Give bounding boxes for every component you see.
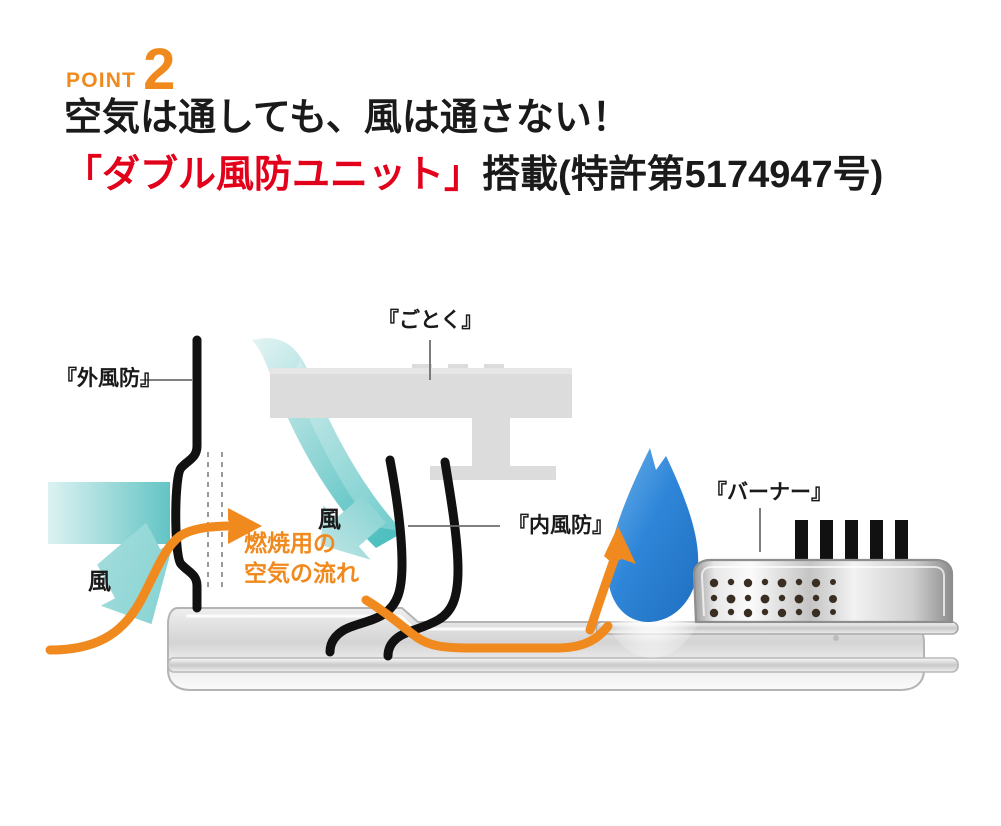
label-burner: 『バーナー』 (706, 482, 832, 503)
windguard-diagram: 『外風防』 『ごとく』 『内風防』 『バーナー』 風 風 燃焼用の 空気の流れ (0, 230, 1001, 826)
label-airflow-line2: 空気の流れ (244, 560, 359, 587)
point-badge: POINT 2 (66, 36, 174, 94)
headline-primary: 空気は通しても、風は通さない！ (64, 98, 630, 140)
outer-windguard-hidden-edges (208, 452, 222, 590)
base-plate (168, 658, 958, 672)
label-inner-windguard: 『内風防』 (508, 515, 613, 536)
label-wind-left: 風 (88, 570, 111, 593)
diagram-canvas (0, 230, 1001, 826)
label-airflow-line1: 燃焼用の (244, 530, 336, 557)
point-2-panel: POINT 2 空気は通しても、風は通さない！ 「ダブル風防ユニット」搭載(特許… (0, 0, 1001, 826)
headline-secondary-red: 「ダブル風防ユニット」 (64, 154, 482, 196)
label-trivet: 『ごとく』 (378, 310, 482, 331)
point-label: POINT (66, 70, 136, 94)
burner-unit (694, 520, 952, 622)
headline-secondary-black: 搭載(特許第5174947号) (482, 154, 883, 196)
label-wind-center: 風 (318, 508, 341, 531)
label-outer-windguard: 『外風防』 (56, 368, 161, 389)
header-block: POINT 2 空気は通しても、風は通さない！ 「ダブル風防ユニット」搭載(特許… (0, 0, 1001, 230)
headline-secondary: 「ダブル風防ユニット」搭載(特許第5174947号) (64, 155, 883, 197)
point-number: 2 (143, 46, 174, 94)
